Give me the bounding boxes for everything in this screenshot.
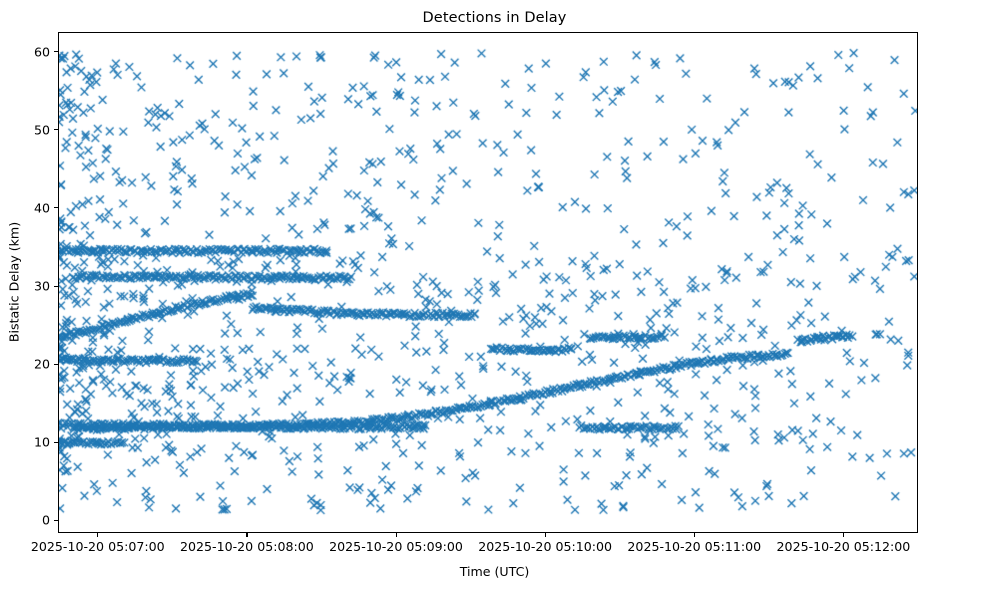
y-tick-label: 0 (0, 513, 50, 528)
y-tick-label: 10 (0, 435, 50, 450)
x-tick-label: 2025-10-20 05:08:00 (180, 539, 314, 554)
scatter-canvas (59, 33, 917, 532)
y-tick-label: 20 (0, 357, 50, 372)
x-tick-mark (396, 533, 397, 537)
x-axis-label: Time (UTC) (0, 564, 989, 579)
x-tick-label: 2025-10-20 05:09:00 (329, 539, 463, 554)
x-tick-mark (97, 533, 98, 537)
x-tick-mark (694, 533, 695, 537)
x-tick-mark (246, 533, 247, 537)
x-tick-mark (843, 533, 844, 537)
y-axis-label: Bistatic Delay (km) (7, 222, 22, 342)
y-tick-label: 40 (0, 200, 50, 215)
plot-area (58, 32, 918, 533)
y-tick-label: 60 (0, 44, 50, 59)
x-tick-label: 2025-10-20 05:12:00 (777, 539, 911, 554)
chart-figure: Detections in Delay 0102030405060 2025-1… (0, 0, 989, 590)
x-tick-mark (545, 533, 546, 537)
x-tick-label: 2025-10-20 05:10:00 (478, 539, 612, 554)
page-title: Detections in Delay (0, 10, 989, 26)
x-tick-label: 2025-10-20 05:07:00 (31, 539, 165, 554)
x-tick-label: 2025-10-20 05:11:00 (627, 539, 761, 554)
y-tick-label: 50 (0, 122, 50, 137)
